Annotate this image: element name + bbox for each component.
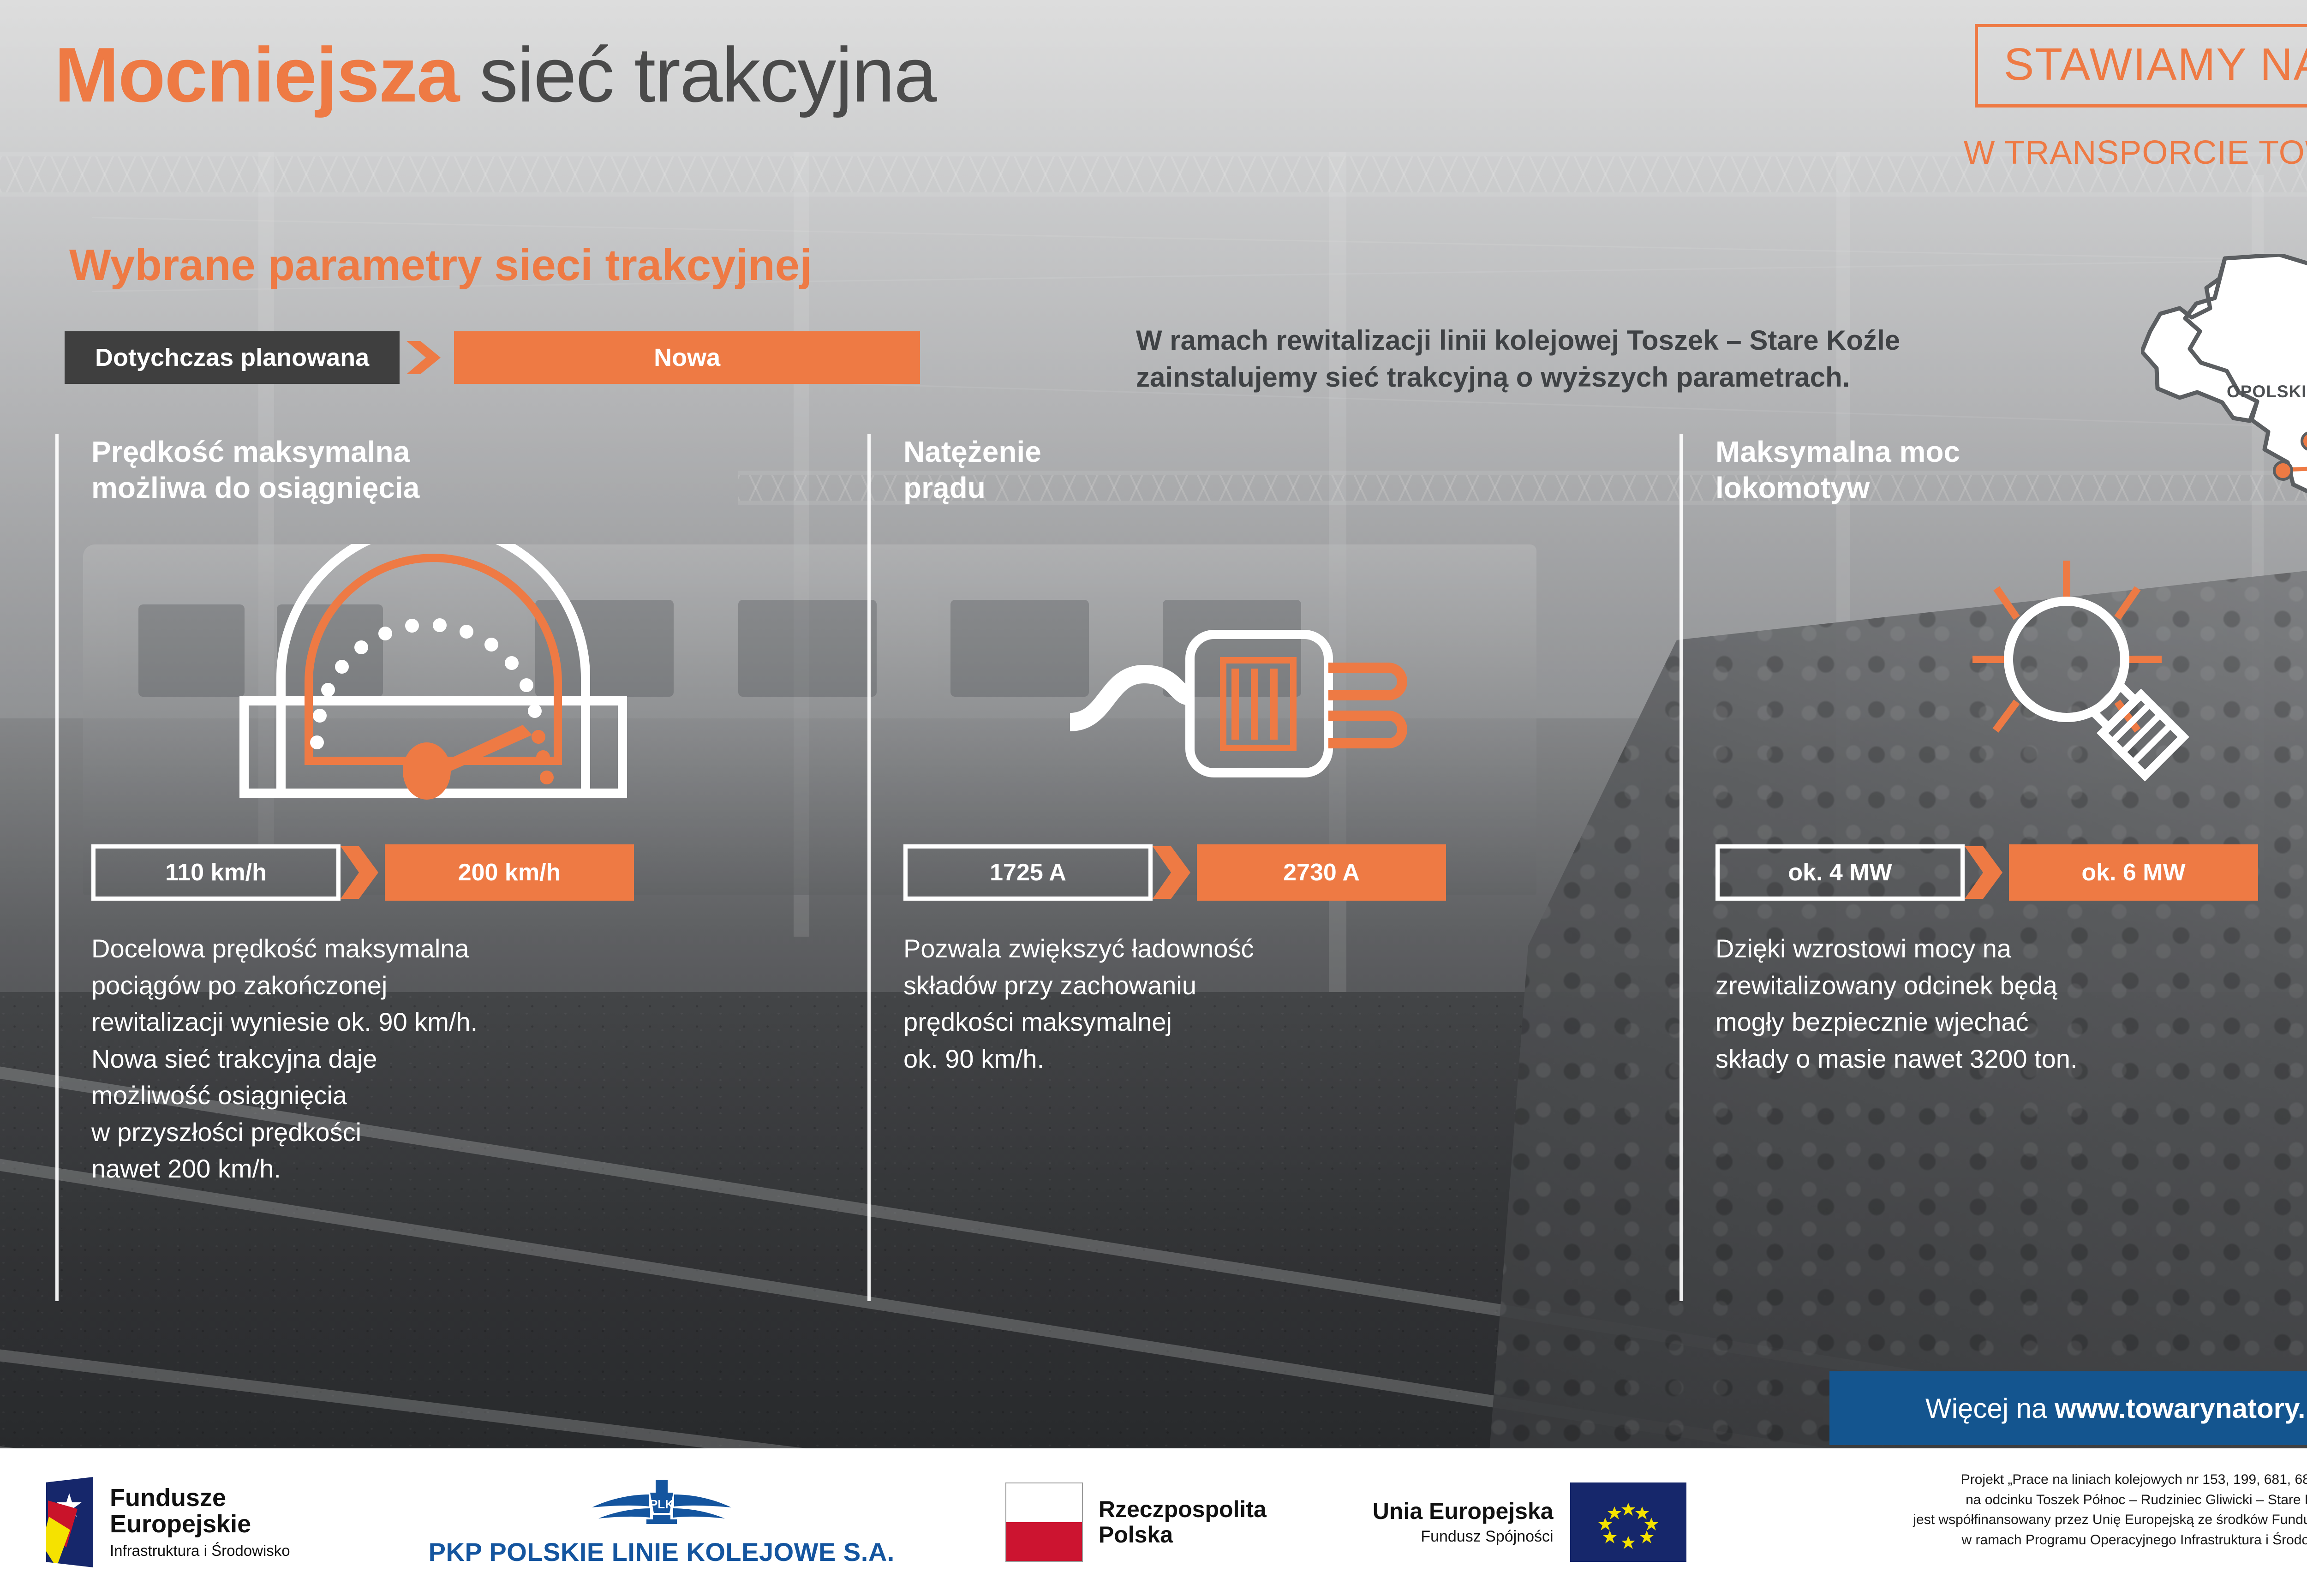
flag-red-stripe: [1006, 1522, 1082, 1561]
column-divider: [867, 434, 871, 1301]
value-arrow-icon: [1965, 844, 2009, 901]
cta-text: Więcej na www.towarynatory.pl: [1925, 1393, 2307, 1424]
legend-new-label: Nowa: [454, 331, 920, 384]
column-title-current: Natężenie prądu: [903, 434, 1587, 506]
fe-flag-icon: [46, 1477, 93, 1567]
page-title: Mocniejsza sieć trakcyjna: [54, 36, 936, 114]
legend: Dotychczas planowana Nowa: [65, 331, 920, 384]
polish-flag-icon: [1005, 1482, 1083, 1562]
light-bulb-icon: [1715, 514, 2307, 832]
fe-line2: Europejskie: [110, 1511, 290, 1537]
value-old-speed: 110 km/h: [91, 844, 341, 901]
plk-winged-wheel-icon: PLK: [429, 1478, 895, 1533]
value-old-current: 1725 A: [903, 844, 1153, 901]
value-new-current: 2730 A: [1197, 844, 1446, 901]
fe-line3: Infrastruktura i Środowisko: [110, 1542, 290, 1560]
fe-text: Fundusze Europejskie Infrastruktura i Śr…: [110, 1485, 290, 1560]
infographic-page: Mocniejsza sieć trakcyjna STAWIAMY NA TO…: [0, 0, 2307, 1596]
cta-prefix: Więcej na: [1925, 1393, 2055, 1424]
column-body-power: Dzięki wzrostowi mocy na zrewitalizowany…: [1715, 930, 2307, 1077]
speedometer-icon: [91, 514, 775, 832]
intro-text: W ramach rewitalizacji linii kolejowej T…: [1136, 322, 2082, 396]
footer-logos: Fundusze Europejskie Infrastruktura i Śr…: [0, 1448, 2307, 1596]
column-divider: [55, 434, 59, 1301]
value-comparison-speed: 110 km/h 200 km/h: [91, 844, 775, 901]
column-body-current: Pozwala zwiększyć ładowność składów przy…: [903, 930, 1587, 1077]
map-label-opolskie: OPOLSKIE: [2227, 382, 2307, 401]
logo-pkp-plk: PLK PKP POLSKIE LINIE KOLEJOWE S.A.: [429, 1478, 895, 1567]
column-current: Natężenie prądu 172: [867, 434, 1587, 1077]
rp-line1: Rzeczpospolita: [1099, 1497, 1267, 1522]
logo-fundusze-europejskie: Fundusze Europejskie Infrastruktura i Śr…: [46, 1477, 290, 1567]
value-comparison-power: ok. 4 MW ok. 6 MW: [1715, 844, 2307, 901]
rp-text: Rzeczpospolita Polska: [1099, 1497, 1267, 1548]
column-title-power: Maksymalna moc lokomotyw: [1715, 434, 2307, 506]
campaign-badge: STAWIAMY NA TORY: [1975, 24, 2307, 108]
ue-line1: Unia Europejska: [1373, 1499, 1554, 1524]
funding-fine-print: Projekt „Prace na liniach kolejowych nr …: [1795, 1470, 2307, 1550]
page-title-rest: sieć trakcyjna: [459, 31, 936, 118]
column-body-speed: Docelowa prędkość maksymalna pociągów po…: [91, 930, 775, 1187]
campaign-badge-label: STAWIAMY NA TORY: [2004, 38, 2307, 90]
value-new-speed: 200 km/h: [385, 844, 634, 901]
value-new-power: ok. 6 MW: [2009, 844, 2258, 901]
value-comparison-current: 1725 A 2730 A: [903, 844, 1587, 901]
power-plug-icon: [903, 514, 1587, 832]
campaign-subtitle: W TRANSPORCIE TOWAROWYM: [1964, 134, 2307, 172]
flag-white-stripe: [1006, 1483, 1082, 1522]
value-arrow-icon: [1153, 844, 1197, 901]
plk-company-name: PKP POLSKIE LINIE KOLEJOWE S.A.: [429, 1537, 895, 1567]
cta-url[interactable]: www.towarynatory.pl: [2055, 1393, 2307, 1424]
column-divider: [1679, 434, 1683, 1301]
page-title-accent: Mocniejsza: [54, 31, 459, 118]
legend-arrow-icon: [400, 331, 454, 384]
legend-old-label: Dotychczas planowana: [65, 331, 400, 384]
fe-line1: Fundusze: [110, 1485, 290, 1511]
column-power: Maksymalna moc lokomotyw: [1679, 434, 2307, 1077]
rp-line2: Polska: [1099, 1522, 1267, 1548]
eu-flag-icon: [1570, 1482, 1686, 1562]
parameter-columns: Prędkość maksymalna możliwa do osiągnięc…: [55, 434, 2307, 1352]
value-arrow-icon: [341, 844, 385, 901]
column-speed: Prędkość maksymalna możliwa do osiągnięc…: [55, 434, 775, 1187]
value-old-power: ok. 4 MW: [1715, 844, 1965, 901]
cta-banner[interactable]: Więcej na www.towarynatory.pl: [1829, 1371, 2307, 1445]
ue-text: Unia Europejska Fundusz Spójności: [1373, 1499, 1554, 1546]
ue-line2: Fundusz Spójności: [1373, 1528, 1554, 1546]
plk-mark-text: PLK: [650, 1497, 674, 1511]
section-heading: Wybrane parametry sieci trakcyjnej: [69, 240, 812, 291]
logo-unia-europejska: Unia Europejska Fundusz Spójności: [1373, 1482, 1686, 1562]
column-title-speed: Prędkość maksymalna możliwa do osiągnięc…: [91, 434, 775, 506]
logo-rzeczpospolita-polska: Rzeczpospolita Polska: [1005, 1482, 1267, 1562]
